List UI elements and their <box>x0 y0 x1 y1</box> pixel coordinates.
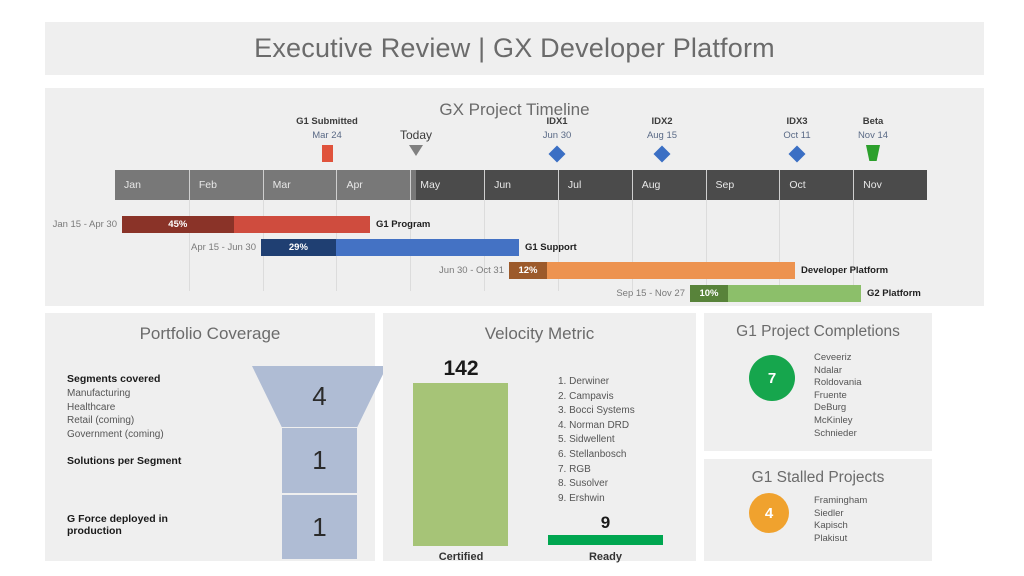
diamond-marker-icon <box>789 146 806 163</box>
month-label-jun: Jun <box>484 170 558 200</box>
stalled-count-badge: 4 <box>749 493 789 533</box>
milestone-name: G1 Submitted <box>282 116 372 127</box>
list-item: Ndalar <box>814 365 862 378</box>
velocity-title: Velocity Metric <box>383 324 696 344</box>
portfolio-title: Portfolio Coverage <box>45 324 375 344</box>
funnel-segment-2: 1 <box>282 495 357 559</box>
task-dates: Jan 15 - Apr 30 <box>53 216 122 233</box>
task-dates: Jun 30 - Oct 31 <box>439 262 509 279</box>
task-percent: 29% <box>261 239 336 256</box>
portfolio-coverage-panel: Portfolio Coverage Segments covered Manu… <box>45 313 375 561</box>
list-item: 1. Derwiner <box>558 375 635 390</box>
task-remaining <box>336 239 519 256</box>
ready-value: 9 <box>548 513 663 533</box>
list-item: DeBurg <box>814 402 862 415</box>
trapezoid-marker-icon <box>866 145 880 161</box>
list-item: Ceveeriz <box>814 352 862 365</box>
milestone-g1-submitted: G1 SubmittedMar 24 <box>282 116 372 162</box>
task-percent: 12% <box>509 262 547 279</box>
list-item: Framingham <box>814 495 867 508</box>
task-dates: Sep 15 - Nov 27 <box>616 285 690 302</box>
portfolio-row-label-1: Solutions per Segment <box>67 455 252 469</box>
task-dates: Apr 15 - Jun 30 <box>191 239 261 256</box>
gridline <box>189 200 190 291</box>
velocity-metric-panel: Velocity Metric 142 Certified 1. Derwine… <box>383 313 696 561</box>
task-remaining <box>547 262 795 279</box>
certified-bar <box>413 383 508 546</box>
g1-completions-panel: G1 Project Completions 7 CeveerizNdalarR… <box>704 313 932 451</box>
list-item: 7. RGB <box>558 463 635 478</box>
portfolio-row-label-0: Segments covered ManufacturingHealthcare… <box>67 373 242 441</box>
milestone-name: IDX2 <box>617 116 707 127</box>
g1-stalled-panel: G1 Stalled Projects 4 FraminghamSiedlerK… <box>704 459 932 561</box>
gantt-task-g1-program: 45%Jan 15 - Apr 30G1 Program <box>122 216 370 233</box>
month-axis: JanFebMarAprMayJunJulAugSepOctNov <box>115 170 927 200</box>
gantt-task-g2-platform: 10%Sep 15 - Nov 27G2 Platform <box>690 285 861 302</box>
milestone-idx2: IDX2Aug 15 <box>617 116 707 160</box>
milestone-beta: BetaNov 14 <box>828 116 918 161</box>
task-percent: 45% <box>122 216 234 233</box>
timeline-panel: GX Project Timeline G1 SubmittedMar 24ID… <box>45 88 984 306</box>
task-remaining <box>728 285 861 302</box>
list-item: Fruente <box>814 390 862 403</box>
month-label-feb: Feb <box>189 170 263 200</box>
month-label-may: May <box>410 170 484 200</box>
list-item: Plakisut <box>814 533 867 546</box>
milestone-date: Nov 14 <box>828 130 918 141</box>
completions-list: CeveerizNdalarRoldovaniaFruenteDeBurgMcK… <box>814 352 862 440</box>
milestone-date: Mar 24 <box>282 130 372 141</box>
today-triangle-icon <box>409 145 423 156</box>
list-item: 3. Bocci Systems <box>558 404 635 419</box>
milestone-idx1: IDX1Jun 30 <box>512 116 602 160</box>
month-label-apr: Apr <box>336 170 410 200</box>
list-item: Schnieder <box>814 428 862 441</box>
today-label: Today <box>376 128 456 142</box>
diamond-marker-icon <box>654 146 671 163</box>
portfolio-row-sublines-0: ManufacturingHealthcareRetail (coming)Go… <box>67 387 242 441</box>
list-item: Kapisch <box>814 520 867 533</box>
list-item: Siedler <box>814 508 867 521</box>
month-label-jul: Jul <box>558 170 632 200</box>
task-name: G1 Program <box>370 216 430 233</box>
list-item: 8. Susolver <box>558 477 635 492</box>
portfolio-row-label-2: G Force deployed in production <box>67 513 217 539</box>
task-name: G2 Platform <box>861 285 921 302</box>
page-title: Executive Review | GX Developer Platform <box>254 33 775 64</box>
portfolio-subline: Manufacturing <box>67 387 242 401</box>
month-label-mar: Mar <box>263 170 337 200</box>
task-name: G1 Support <box>519 239 577 256</box>
list-item: 6. Stellanbosch <box>558 448 635 463</box>
gantt-task-developer-platform: 12%Jun 30 - Oct 31Developer Platform <box>509 262 795 279</box>
task-percent: 10% <box>690 285 728 302</box>
portfolio-row-title-1: Solutions per Segment <box>67 455 252 467</box>
title-banner: Executive Review | GX Developer Platform <box>45 22 984 75</box>
ready-project-list: 1. Derwiner2. Campavis3. Bocci Systems4.… <box>558 375 635 506</box>
month-label-sep: Sep <box>706 170 780 200</box>
ready-bar <box>548 535 663 545</box>
portfolio-subline: Healthcare <box>67 401 242 415</box>
today-marker: Today <box>376 128 456 156</box>
month-label-aug: Aug <box>632 170 706 200</box>
list-item: McKinley <box>814 415 862 428</box>
completions-title: G1 Project Completions <box>704 323 932 341</box>
milestone-name: Beta <box>828 116 918 127</box>
list-item: 2. Campavis <box>558 390 635 405</box>
list-item: 4. Norman DRD <box>558 419 635 434</box>
milestone-date: Aug 15 <box>617 130 707 141</box>
gantt-task-g1-support: 29%Apr 15 - Jun 30G1 Support <box>261 239 519 256</box>
stalled-list: FraminghamSiedlerKapischPlakisut <box>814 495 867 545</box>
month-label-oct: Oct <box>779 170 853 200</box>
certified-value: 142 <box>411 357 511 381</box>
stalled-title: G1 Stalled Projects <box>704 469 932 487</box>
task-remaining <box>234 216 370 233</box>
funnel-segment-0: 4 <box>252 366 387 427</box>
milestone-name: IDX1 <box>512 116 602 127</box>
month-label-jan: Jan <box>115 170 189 200</box>
funnel-segment-1: 1 <box>282 428 357 493</box>
portfolio-subline: Retail (coming) <box>67 414 242 428</box>
square-marker-icon <box>322 145 333 162</box>
certified-label: Certified <box>411 551 511 563</box>
portfolio-row-title-0: Segments covered <box>67 373 242 385</box>
list-item: 5. Sidwellent <box>558 433 635 448</box>
list-item: 9. Ershwin <box>558 492 635 507</box>
ready-label: Ready <box>548 551 663 563</box>
list-item: Roldovania <box>814 377 862 390</box>
portfolio-subline: Government (coming) <box>67 428 242 442</box>
diamond-marker-icon <box>549 146 566 163</box>
milestone-date: Jun 30 <box>512 130 602 141</box>
month-label-nov: Nov <box>853 170 927 200</box>
portfolio-row-title-2: G Force deployed in production <box>67 513 217 537</box>
task-name: Developer Platform <box>795 262 888 279</box>
completions-count-badge: 7 <box>749 355 795 401</box>
